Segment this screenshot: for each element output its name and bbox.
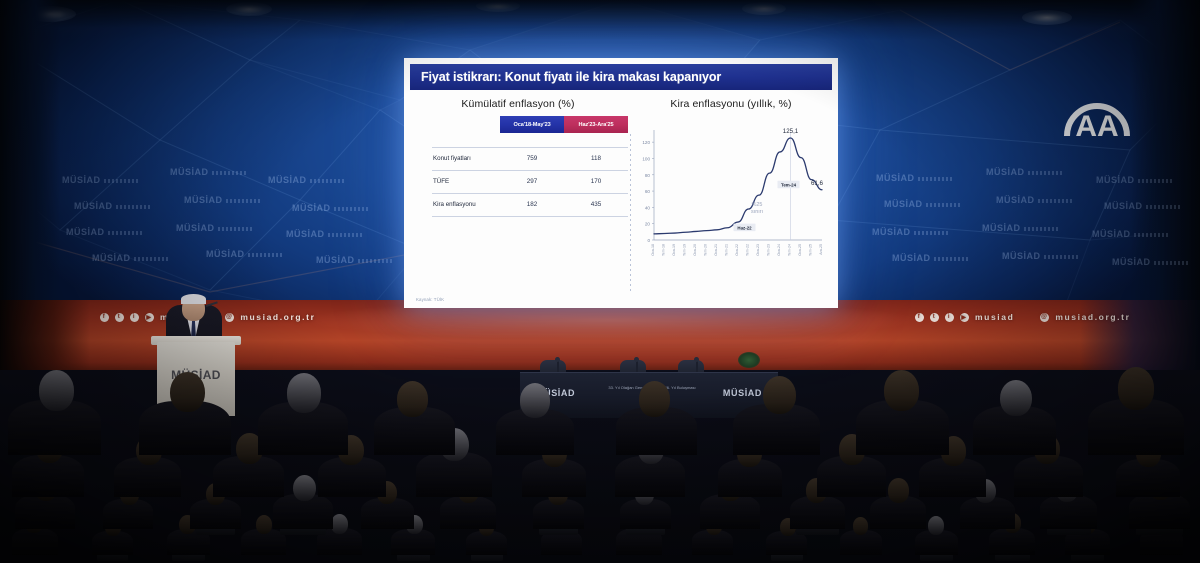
wall-logo: MÜSİAD <box>996 195 1035 205</box>
table-spacer-row <box>432 133 628 147</box>
svg-text:Oca-23: Oca-23 <box>756 244 760 256</box>
table-header-period-1: Oca'18-May'23 <box>500 116 564 133</box>
table-row: Konut fiyatları 759 118 <box>432 147 628 170</box>
wall-logo: MÜSİAD <box>1112 257 1151 267</box>
audience-member-head <box>1118 367 1155 409</box>
wall-top-shadow <box>0 0 1200 40</box>
wall-logo: MÜSİAD <box>316 255 355 265</box>
audience-member-head <box>639 381 670 417</box>
cumulative-inflation-panel: Kümülatif enflasyon (%) Oca'18-May'23 Ha… <box>404 92 626 308</box>
audience-member-head <box>397 381 428 417</box>
audience-member-head <box>39 370 75 411</box>
svg-text:%25: %25 <box>752 202 763 208</box>
audience-member <box>8 354 101 455</box>
svg-text:Tem-25: Tem-25 <box>809 244 813 256</box>
audience-member <box>374 367 455 455</box>
row-label: TÜFE <box>432 170 500 193</box>
audience-member-head <box>293 475 316 501</box>
wall-logo: MÜSİAD <box>1104 201 1143 211</box>
svg-text:Tem-24: Tem-24 <box>788 244 792 256</box>
svg-text:Tem-19: Tem-19 <box>683 244 687 256</box>
wall-logo: MÜSİAD <box>206 249 245 259</box>
wall-logo: MÜSİAD <box>92 253 131 263</box>
svg-text:Tem-23: Tem-23 <box>767 244 771 256</box>
svg-text:Haz-22: Haz-22 <box>737 225 752 230</box>
facebook-icon: f <box>915 313 924 322</box>
audience-member-head <box>520 383 550 418</box>
audience-member-head <box>884 370 920 411</box>
slide: Fiyat istikrarı: Konut fiyatı ile kira m… <box>404 58 838 308</box>
globe-icon: @ <box>225 313 234 322</box>
audience-member-head <box>287 373 321 413</box>
backdrop-website: musiad.org.tr <box>1055 312 1130 322</box>
svg-text:Oca-24: Oca-24 <box>777 244 781 256</box>
row-value: 759 <box>500 147 564 170</box>
backdrop-website: musiad.org.tr <box>240 312 315 322</box>
table-row: TÜFE 297 170 <box>432 170 628 193</box>
cumulative-inflation-table: Oca'18-May'23 Haz'23-Ara'25 Kon <box>432 116 628 217</box>
svg-text:20: 20 <box>645 222 651 227</box>
audience-member <box>1088 350 1184 455</box>
wall-logo: MÜSİAD <box>986 167 1025 177</box>
audience-member-head <box>170 372 205 412</box>
wall-logo: MÜSİAD <box>872 227 911 237</box>
wall-logo: MÜSİAD <box>1002 251 1041 261</box>
anadolu-agency-logo: AA <box>1055 78 1139 142</box>
instagram-icon: i <box>130 313 139 322</box>
wall-logo: MÜSİAD <box>876 173 915 183</box>
wall-logo: MÜSİAD <box>884 199 923 209</box>
wall-logo: MÜSİAD <box>66 227 105 237</box>
table-header-period-2: Haz'23-Ara'25 <box>564 116 628 133</box>
youtube-icon: ▶ <box>960 313 969 322</box>
youtube-icon: ▶ <box>145 313 154 322</box>
row-label: Kira enflasyonu <box>432 193 500 216</box>
audience-member <box>616 367 697 455</box>
slide-title-bar: Fiyat istikrarı: Konut fiyatı ile kira m… <box>410 64 832 90</box>
slide-title: Fiyat istikrarı: Konut fiyatı ile kira m… <box>421 70 721 84</box>
audience-member <box>973 365 1056 455</box>
audience-member-head <box>928 516 944 535</box>
instagram-icon: i <box>945 313 954 322</box>
wall-logo: MÜSİAD <box>62 175 101 185</box>
svg-text:100: 100 <box>642 156 650 161</box>
source-note: Kaynak: TÜİK <box>416 297 444 302</box>
table-row: Kira enflasyonu 182 435 <box>432 193 628 216</box>
wall-logo: MÜSİAD <box>286 229 325 239</box>
audience <box>0 333 1200 563</box>
svg-text:sınırı: sınırı <box>751 209 763 215</box>
audience-member <box>733 360 820 455</box>
audience-member-head <box>331 514 348 534</box>
aa-letters: AA <box>1075 110 1118 142</box>
speaker-hair <box>181 294 206 304</box>
audience-member-head <box>1000 380 1032 417</box>
wall-logo: MÜSİAD <box>176 223 215 233</box>
wall-logo: MÜSİAD <box>184 195 223 205</box>
row-value: 170 <box>564 170 628 193</box>
table-head: Oca'18-May'23 Haz'23-Ara'25 <box>432 116 628 133</box>
globe-icon: @ <box>1040 313 1049 322</box>
right-panel-heading: Kira enflasyonu (yıllık, %) <box>632 98 830 110</box>
backdrop-handle: musiad <box>975 312 1014 322</box>
svg-text:61,6: 61,6 <box>811 180 824 187</box>
svg-text:Oca-18: Oca-18 <box>651 244 655 256</box>
row-value: 297 <box>500 170 564 193</box>
svg-text:60: 60 <box>645 189 651 194</box>
wall-logo: MÜSİAD <box>982 223 1021 233</box>
svg-text:120: 120 <box>642 140 650 145</box>
table-header-row: Oca'18-May'23 Haz'23-Ara'25 <box>432 116 628 133</box>
svg-text:Tem-24: Tem-24 <box>781 183 797 188</box>
table-header-blank <box>432 116 500 133</box>
conference-hall-scene: MÜSİAD MÜSİAD MÜSİAD MÜSİAD MÜSİAD MÜSİA… <box>0 0 1200 563</box>
svg-text:Tem-20: Tem-20 <box>704 244 708 256</box>
row-label: Konut fiyatları <box>432 147 500 170</box>
backdrop-social-strip-right: f t i ▶ musiad @ musiad.org.tr <box>915 312 1130 322</box>
twitter-icon: t <box>115 313 124 322</box>
rent-inflation-chart: 020406080100120Oca-18Tem-18Oca-19Tem-19O… <box>632 116 830 292</box>
slide-body: Kümülatif enflasyon (%) Oca'18-May'23 Ha… <box>404 92 838 308</box>
svg-text:Tem-21: Tem-21 <box>725 244 729 256</box>
audience-member <box>496 370 575 455</box>
wall-logo: MÜSİAD <box>170 167 209 177</box>
audience-member <box>856 354 949 455</box>
facebook-icon: f <box>100 313 109 322</box>
svg-text:Oca-20: Oca-20 <box>693 244 697 256</box>
row-value: 435 <box>564 193 628 216</box>
audience-member <box>258 357 348 455</box>
svg-text:Tem-22: Tem-22 <box>746 244 750 256</box>
table-body: Konut fiyatları 759 118 TÜFE 297 170 Kir… <box>432 133 628 216</box>
wall-logo: MÜSİAD <box>74 201 113 211</box>
svg-text:Ara-25: Ara-25 <box>819 244 823 255</box>
spacer-cell <box>432 133 500 147</box>
svg-text:Oca-21: Oca-21 <box>714 244 718 256</box>
wall-logo: MÜSİAD <box>1092 229 1131 239</box>
left-panel-heading: Kümülatif enflasyon (%) <box>416 98 620 110</box>
chart-svg: 020406080100120Oca-18Tem-18Oca-19Tem-19O… <box>632 116 828 286</box>
spacer-cell <box>564 133 628 147</box>
row-value: 118 <box>564 147 628 170</box>
spacer-cell <box>500 133 564 147</box>
row-value: 182 <box>500 193 564 216</box>
svg-text:Oca-25: Oca-25 <box>798 244 802 256</box>
twitter-icon: t <box>930 313 939 322</box>
audience-member-head <box>763 376 796 414</box>
svg-text:80: 80 <box>645 173 651 178</box>
svg-text:0: 0 <box>647 238 650 243</box>
svg-text:125,1: 125,1 <box>783 128 799 135</box>
audience-member-head <box>888 478 909 503</box>
wall-logo: MÜSİAD <box>892 253 931 263</box>
wall-logo: MÜSİAD <box>268 175 307 185</box>
presentation-screen: Fiyat istikrarı: Konut fiyatı ile kira m… <box>404 58 838 308</box>
wall-logo: MÜSİAD <box>1096 175 1135 185</box>
audience-member-head <box>256 515 273 535</box>
wall-logo: MÜSİAD <box>292 203 331 213</box>
svg-text:Oca-22: Oca-22 <box>735 244 739 256</box>
svg-text:40: 40 <box>645 205 651 210</box>
svg-text:Tem-18: Tem-18 <box>662 244 666 256</box>
rent-inflation-panel: Kira enflasyonu (yıllık, %) 020406080100… <box>626 92 838 308</box>
audience-member <box>139 356 230 455</box>
svg-text:Oca-19: Oca-19 <box>672 244 676 256</box>
